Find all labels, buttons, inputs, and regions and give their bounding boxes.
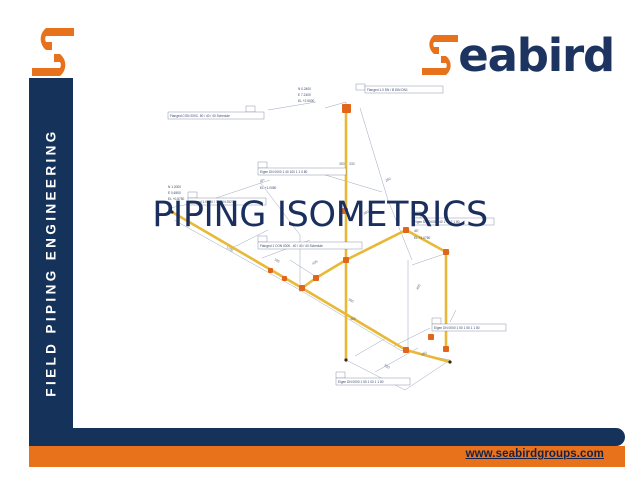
svg-text:EL +1.0050: EL +1.0050 xyxy=(260,186,277,190)
svg-text:47": 47" xyxy=(260,179,265,183)
svg-text:Flanged CON 000C. 50 / 40 / 40: Flanged CON 000C. 50 / 40 / 40 Schedule xyxy=(170,114,230,118)
seabird-s-logo-icon xyxy=(30,26,76,78)
svg-text:300: 300 xyxy=(348,297,355,303)
slide-root: Flanged 1.0 DN / B DIN DN1 Flanged CON 0… xyxy=(0,0,640,495)
seabird-wordmark: eabird xyxy=(458,33,614,78)
sidebar-band xyxy=(29,78,73,446)
svg-text:E 7.2400: E 7.2400 xyxy=(298,93,311,97)
svg-text:Elgen DN 0000 1 50 1 50 1 1 80: Elgen DN 0000 1 50 1 50 1 1 80 xyxy=(434,326,480,330)
svg-text:405: 405 xyxy=(311,259,318,265)
svg-text:Flanged 1 CON 0000 . 40 / 40 /: Flanged 1 CON 0000 . 40 / 40 / 40 Schedu… xyxy=(260,244,323,248)
svg-text:EL +1.0750: EL +1.0750 xyxy=(414,236,431,240)
svg-text:N 1.2000: N 1.2000 xyxy=(168,185,181,189)
footer-navy-bar xyxy=(29,428,625,446)
piping-isometric-drawing: Flanged 1.0 DN / B DIN DN1 Flanged CON 0… xyxy=(150,60,510,410)
footer-website-link[interactable]: www.seabirdgroups.com xyxy=(466,448,604,460)
svg-text:330: 330 xyxy=(349,162,355,166)
svg-text:195: 195 xyxy=(274,257,281,263)
svg-text:EL +2.5000: EL +2.5000 xyxy=(298,99,315,103)
svg-text:920: 920 xyxy=(384,363,391,369)
svg-text:Elgen DN 0000 1 40 100 1 1 0 8: Elgen DN 0000 1 40 100 1 1 0 80 xyxy=(260,170,308,174)
seabird-s-logo-icon xyxy=(420,33,460,77)
svg-text:405: 405 xyxy=(415,283,421,290)
svg-text:Flanged 1.0 DN / B DIN DN1: Flanged 1.0 DN / B DIN DN1 xyxy=(367,88,408,92)
svg-text:350: 350 xyxy=(339,162,345,166)
page-title: PIPING ISOMETRICS xyxy=(0,198,640,233)
svg-text:455: 455 xyxy=(350,317,356,321)
svg-text:Elgen DN 0000 1 50 1 00 1 1 80: Elgen DN 0000 1 50 1 00 1 1 80 xyxy=(338,380,384,384)
seabird-logo: eabird xyxy=(420,24,614,86)
svg-text:260: 260 xyxy=(385,177,392,183)
svg-text:N 0.2400: N 0.2400 xyxy=(298,87,311,91)
